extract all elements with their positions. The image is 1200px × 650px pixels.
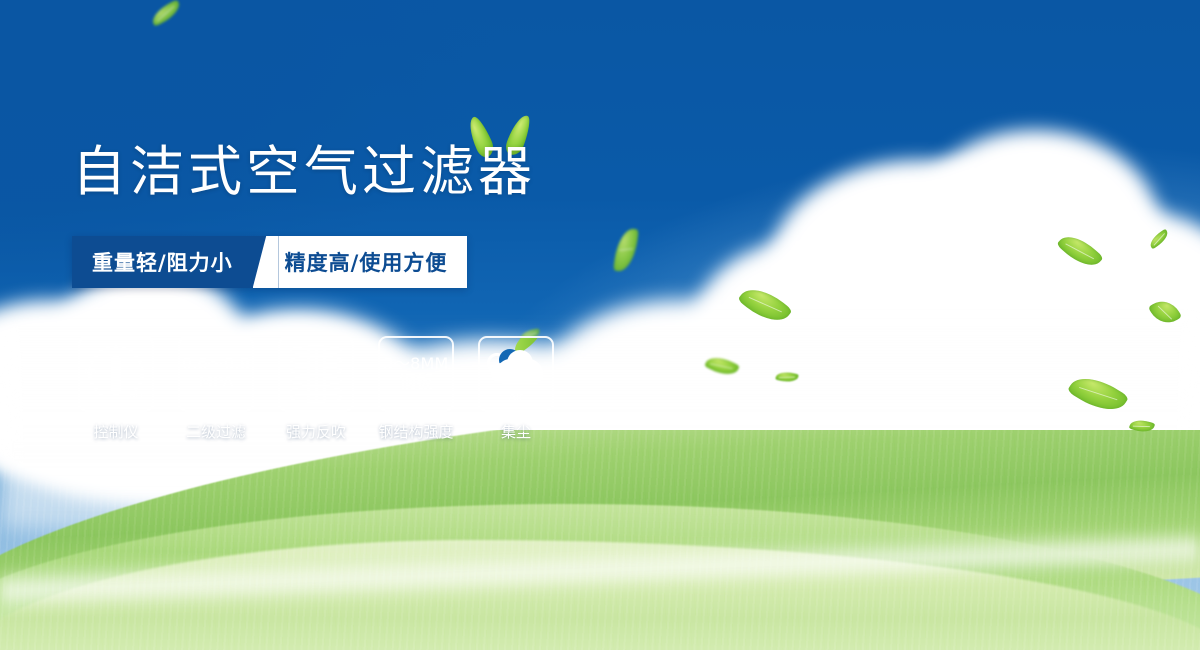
- feature-label: 二级过滤: [186, 421, 246, 442]
- filter-rings-icon: [290, 345, 342, 403]
- pressure-unit: MPA: [182, 374, 250, 393]
- air-cloud-icon: Air: [485, 345, 547, 403]
- feature-icon-box: 0.6～0.8 MPA: [178, 336, 254, 412]
- page-title: 自洁式空气过滤器: [72, 145, 536, 199]
- feature-icon-box: 3～8MM 钢板: [378, 336, 454, 412]
- banner-hero: 自洁式空气过滤器 重量轻/阻力小 精度高/使用方便: [0, 0, 1200, 650]
- feature-icon-box: Air: [478, 336, 554, 412]
- feature-label: 钢结构强度: [378, 421, 453, 442]
- feature-label: 控制仪: [93, 421, 138, 442]
- feature-item-dust[interactable]: Air 集尘: [478, 336, 554, 442]
- subtitle-left: 重量轻/阻力小: [72, 236, 253, 288]
- feature-list: NO OFF 控制仪 0.6～0.8 MPA 二级过滤: [78, 336, 554, 442]
- feature-item-filter[interactable]: 0.6～0.8 MPA 二级过滤: [178, 336, 254, 442]
- grass-field: [0, 430, 1200, 650]
- feature-icon-box: NO OFF: [78, 336, 154, 412]
- feature-label: 强力反吹: [286, 421, 346, 442]
- gauge-label-off: OFF: [130, 393, 146, 400]
- feature-item-blowback[interactable]: 强力反吹: [278, 336, 354, 442]
- pressure-text-icon: 0.6～0.8 MPA: [182, 355, 250, 394]
- steel-thickness: 3～8MM: [384, 355, 449, 373]
- feature-icon-box: [278, 336, 354, 412]
- steel-plate-text-icon: 3～8MM 钢板: [384, 355, 449, 394]
- gauge-needle: [111, 355, 121, 395]
- subtitle-right: 精度高/使用方便: [279, 236, 468, 288]
- gauge-label-no: NO: [85, 369, 97, 376]
- air-label: Air: [485, 391, 547, 403]
- cloud-body: [497, 359, 543, 385]
- steel-material: 钢板: [384, 374, 449, 393]
- feature-item-control[interactable]: NO OFF 控制仪: [78, 336, 154, 442]
- feature-item-steel[interactable]: 3～8MM 钢板 钢结构强度: [378, 336, 454, 442]
- subtitle-bar: 重量轻/阻力小 精度高/使用方便: [72, 236, 467, 288]
- grass-texture: [0, 430, 1200, 650]
- feature-label: 集尘: [501, 421, 531, 442]
- subtitle-divider: [253, 236, 279, 288]
- gauge-icon: NO OFF: [85, 344, 147, 404]
- pressure-value: 0.6～0.8: [182, 355, 250, 373]
